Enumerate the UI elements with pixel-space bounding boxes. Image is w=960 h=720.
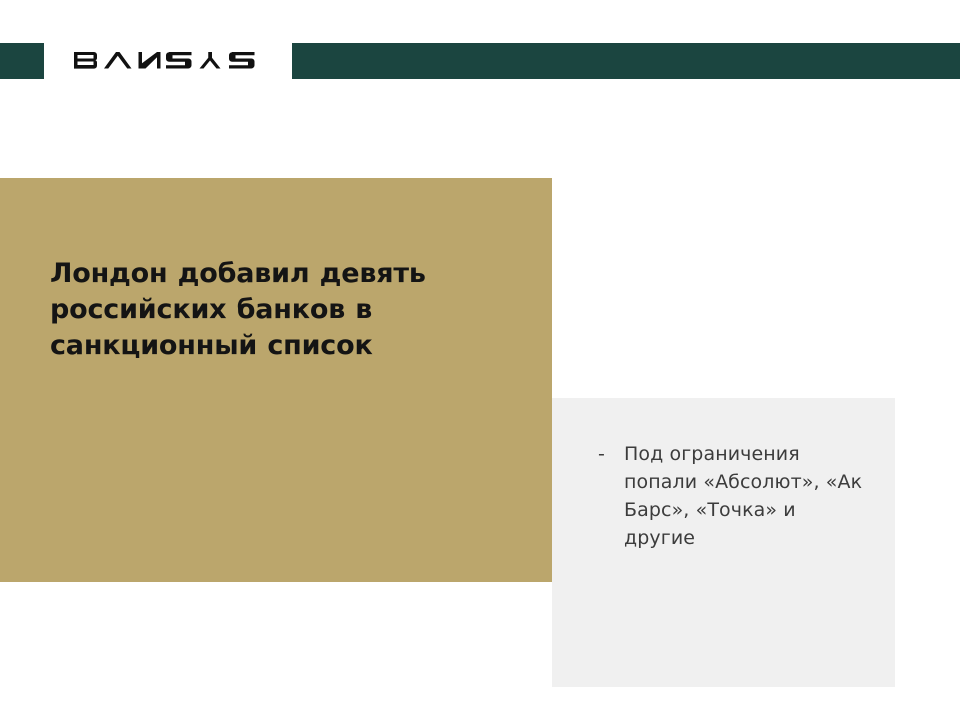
header-band — [0, 43, 960, 79]
list-item: - Под ограничения попали «Абсолют», «Ак … — [598, 440, 868, 552]
title-panel: Лондон добавил девять российских банков … — [0, 178, 552, 582]
slide-canvas: Лондон добавил девять российских банков … — [0, 0, 960, 720]
bullet-list: - Под ограничения попали «Абсолют», «Ак … — [598, 440, 868, 552]
logo-plate — [44, 43, 292, 79]
bullet-dash-marker: - — [598, 440, 605, 468]
slide-title: Лондон добавил девять российских банков … — [50, 256, 490, 364]
body-panel: - Под ограничения попали «Абсолют», «Ак … — [552, 398, 895, 687]
header-bar-left — [0, 43, 44, 79]
bullet-text: Под ограничения попали «Абсолют», «Ак Ба… — [624, 443, 862, 549]
header-bar-right — [292, 43, 960, 79]
bansys-wordmark-icon — [73, 49, 263, 73]
